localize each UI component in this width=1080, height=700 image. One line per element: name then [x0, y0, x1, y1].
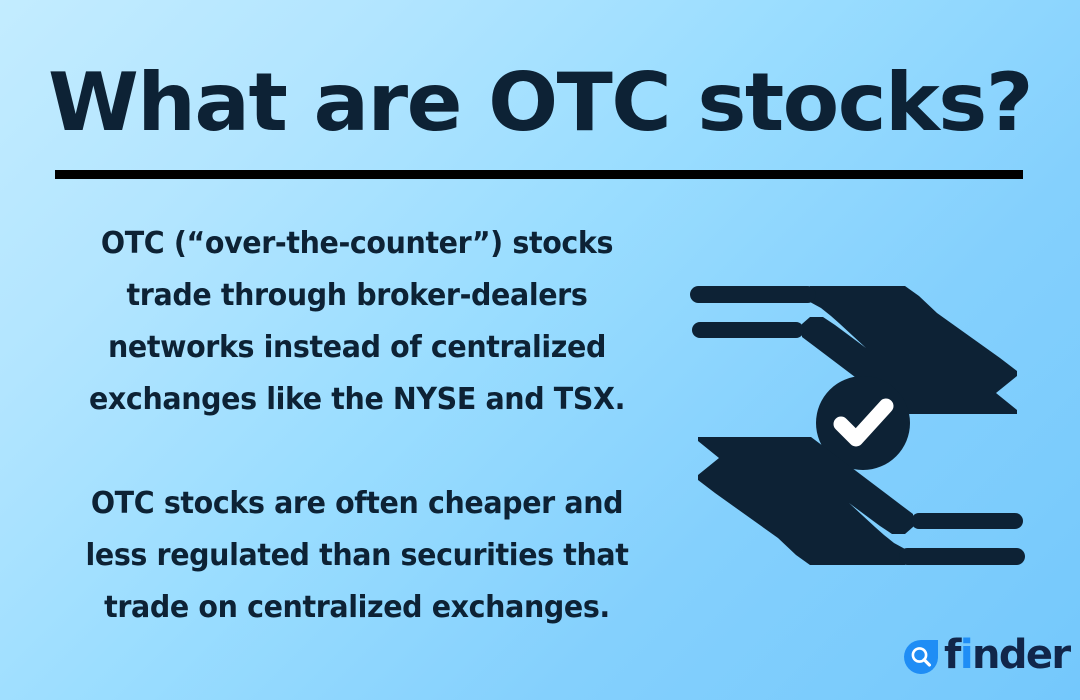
finder-droplet-search-icon: [903, 639, 939, 675]
title-block: What are OTC stocks?: [50, 56, 1030, 150]
title-underline-rule: [55, 170, 1023, 179]
wordmark-letter-i: i: [960, 632, 972, 678]
wordmark-part-after-i: nder: [972, 632, 1070, 678]
wordmark-part-before-i: f: [944, 632, 960, 678]
paragraph-comparison: OTC stocks are often cheaper and less re…: [62, 478, 653, 634]
finder-logo[interactable]: finder: [903, 637, 1070, 677]
body-copy-block: OTC (“over-the-counter”) stocks trade th…: [46, 218, 668, 634]
infographic-canvas: What are OTC stocks? OTC (“over-the-coun…: [0, 0, 1080, 700]
hands-check-illustration: [690, 272, 1025, 577]
finder-wordmark: finder: [944, 635, 1070, 675]
page-title: What are OTC stocks?: [35, 56, 1044, 150]
paragraph-definition: OTC (“over-the-counter”) stocks trade th…: [62, 218, 653, 426]
